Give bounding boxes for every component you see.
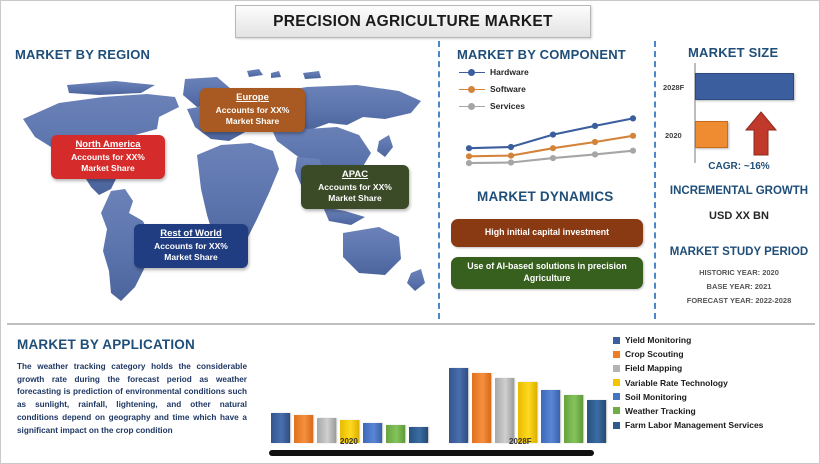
legend-swatch-icon	[613, 422, 620, 429]
app-bar-2020-farm-labor	[409, 427, 428, 443]
app-bar-2028f-soil-monitoring	[541, 390, 560, 443]
app-bar-2028f-crop-scouting	[472, 373, 491, 443]
legend-swatch-icon	[613, 393, 620, 400]
market-dynamics-panel: High initial capital investment Use of A…	[443, 183, 651, 315]
legend-swatch-icon	[613, 407, 620, 414]
legend-item-variable-rate-technology[interactable]: Variable Rate Technology	[613, 378, 818, 388]
legend-item-soil-monitoring[interactable]: Soil Monitoring	[613, 392, 818, 402]
legend-item-crop-scouting[interactable]: Crop Scouting	[613, 349, 818, 359]
application-xtick-2028f: 2028F	[509, 437, 532, 446]
legend-item-field-mapping[interactable]: Field Mapping	[613, 363, 818, 373]
legend-item-farm-labor-management-services[interactable]: Farm Labor Management Services	[613, 420, 818, 430]
region-share-line1: Accounts for XX%	[142, 241, 240, 252]
legend-label: Farm Labor Management Services	[625, 420, 763, 430]
forecast-year: FORECAST YEAR: 2022-2028	[659, 295, 819, 306]
region-name: North America	[59, 139, 157, 151]
application-xtick-2020: 2020	[340, 437, 358, 446]
dynamics-item-restraint[interactable]: High initial capital investment	[451, 219, 643, 247]
application-chart-axis	[269, 450, 594, 456]
divider-component-size	[654, 41, 656, 319]
legend-label: Soil Monitoring	[625, 392, 687, 402]
legend-label: Field Mapping	[625, 363, 682, 373]
legend-label: Weather Tracking	[625, 406, 696, 416]
legend-swatch-icon	[613, 351, 620, 358]
page-title: PRECISION AGRICULTURE MARKET	[273, 13, 553, 31]
world-map-panel: North America Accounts for XX% Market Sh…	[7, 61, 435, 316]
legend-swatch-icon	[613, 337, 620, 344]
market-by-application-chart	[263, 333, 608, 443]
region-share-line2: Market Share	[59, 163, 157, 174]
market-size-category-2020: 2020	[665, 131, 682, 140]
base-year: BASE YEAR: 2021	[659, 281, 819, 292]
legend-item-yield-monitoring[interactable]: Yield Monitoring	[613, 335, 818, 345]
region-label-europe[interactable]: Europe Accounts for XX% Market Share	[200, 88, 305, 132]
app-bar-2020-soil-monitoring	[363, 423, 382, 443]
region-share-line1: Accounts for XX%	[59, 152, 157, 163]
region-share-line2: Market Share	[208, 116, 297, 127]
region-name: Europe	[208, 92, 297, 104]
divider-top-bottom	[7, 323, 815, 325]
region-name: Rest of World	[142, 228, 240, 240]
market-size-category-2028f: 2028F	[663, 83, 684, 92]
divider-region-component	[438, 41, 440, 319]
legend-item-weather-tracking[interactable]: Weather Tracking	[613, 406, 818, 416]
incremental-growth-value: USD XX BN	[659, 210, 819, 222]
region-label-rest-of-world[interactable]: Rest of World Accounts for XX% Market Sh…	[134, 224, 248, 268]
app-bar-2020-crop-scouting	[294, 415, 313, 443]
region-share-line1: Accounts for XX%	[309, 182, 401, 193]
page-title-bar: PRECISION AGRICULTURE MARKET	[235, 5, 591, 38]
section-heading-application: MARKET BY APPLICATION	[17, 337, 195, 352]
region-share-line1: Accounts for XX%	[208, 105, 297, 116]
application-chart-legend: Yield Monitoring Crop Scouting Field Map…	[613, 335, 818, 434]
section-heading-market-size: MARKET SIZE	[688, 45, 778, 60]
dynamics-label: Use of AI-based solutions in precision A…	[459, 261, 635, 285]
region-share-line2: Market Share	[309, 193, 401, 204]
infographic-page: PRECISION AGRICULTURE MARKET MARKET BY R…	[0, 0, 820, 464]
market-size-bar-2020	[695, 121, 728, 148]
app-bar-2020-weather-tracking	[386, 425, 405, 443]
legend-swatch-icon	[613, 365, 620, 372]
section-heading-region: MARKET BY REGION	[15, 47, 150, 62]
dynamics-item-driver[interactable]: Use of AI-based solutions in precision A…	[451, 257, 643, 289]
app-bar-2020-field-mapping	[317, 418, 336, 443]
application-description: The weather tracking category holds the …	[17, 361, 247, 437]
region-label-north-america[interactable]: North America Accounts for XX% Market Sh…	[51, 135, 165, 179]
market-study-period-label: MARKET STUDY PERIOD	[659, 246, 819, 258]
app-bar-2028f-variable-rate	[518, 382, 537, 443]
dynamics-label: High initial capital investment	[485, 227, 609, 239]
market-by-component-chart: Hardware Software Services	[443, 61, 651, 179]
legend-label: Yield Monitoring	[625, 335, 691, 345]
app-bar-2028f-weather-tracking	[564, 395, 583, 443]
legend-swatch-icon	[613, 379, 620, 386]
app-bar-2020-yield-monitoring	[271, 413, 290, 443]
app-bar-2028f-field-mapping	[495, 378, 514, 443]
region-name: APAC	[309, 169, 401, 181]
region-label-apac[interactable]: APAC Accounts for XX% Market Share	[301, 165, 409, 209]
market-size-chart: 2028F 2020	[661, 61, 817, 171]
component-line-plot	[443, 61, 651, 179]
region-share-line2: Market Share	[142, 252, 240, 263]
section-heading-component: MARKET BY COMPONENT	[457, 47, 626, 62]
growth-arrow-icon	[743, 111, 779, 157]
legend-label: Crop Scouting	[625, 349, 684, 359]
historic-year: HISTORIC YEAR: 2020	[659, 267, 819, 278]
app-bar-2028f-farm-labor	[587, 400, 606, 443]
legend-label: Variable Rate Technology	[625, 378, 728, 388]
market-size-bar-2028f	[695, 73, 794, 100]
incremental-growth-label: INCREMENTAL GROWTH	[659, 185, 819, 197]
app-bar-2028f-yield-monitoring	[449, 368, 468, 443]
cagr-value: CAGR: ~16%	[659, 161, 819, 172]
application-body-text: The weather tracking category holds the …	[17, 361, 247, 437]
